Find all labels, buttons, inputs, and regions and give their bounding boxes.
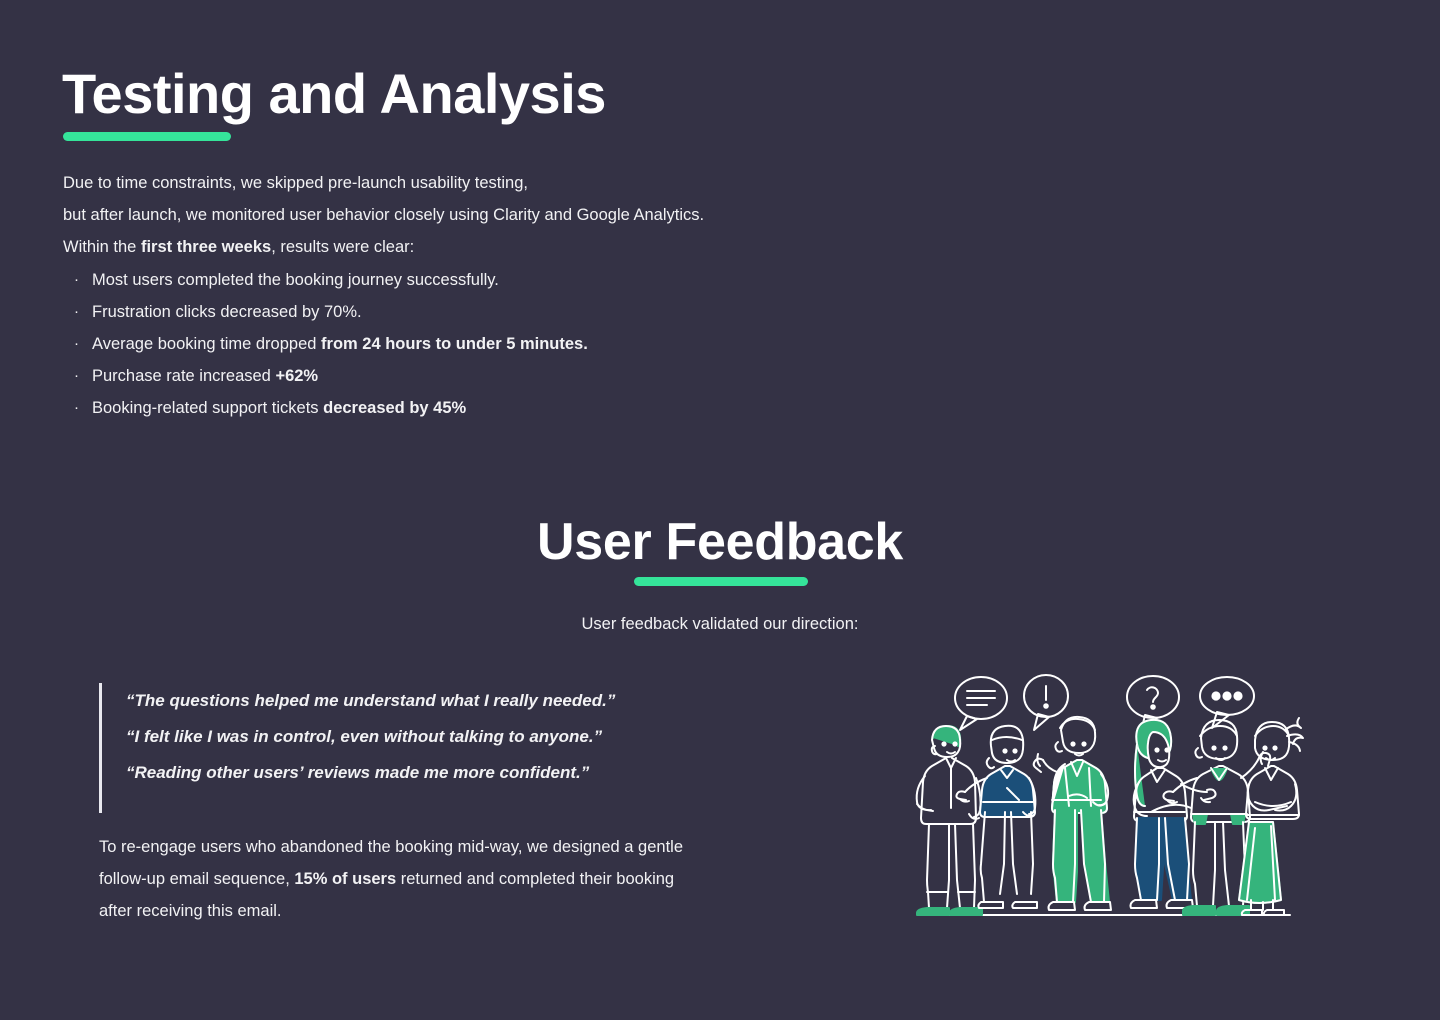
closing-suffix: returned and completed their booking (396, 870, 674, 888)
user-quote: “I felt like I was in control, even with… (126, 719, 819, 755)
figure-2 (956, 726, 1037, 908)
bullet-dot-icon: · (74, 328, 79, 360)
lead-in-bold: first three weeks (141, 238, 271, 256)
closing-line-2: follow-up email sequence, 15% of users r… (99, 863, 829, 895)
slide-root: Testing and Analysis Due to time constra… (0, 0, 1440, 1020)
speech-bubble-exclamation (1024, 675, 1068, 730)
speech-bubble-lines (955, 677, 1007, 730)
closing-line-1: To re-engage users who abandoned the boo… (99, 831, 829, 863)
list-item: ·Average booking time dropped from 24 ho… (70, 328, 588, 360)
user-quote: “Reading other users’ reviews made me mo… (126, 755, 819, 791)
title-accent-underline (63, 132, 231, 141)
intro-line-1: Due to time constraints, we skipped pre-… (63, 167, 963, 199)
results-bullet-list: ·Most users completed the booking journe… (70, 264, 588, 424)
page-title: Testing and Analysis (62, 62, 606, 126)
list-item: ·Most users completed the booking journe… (70, 264, 588, 296)
closing-line-3: after receiving this email. (99, 895, 829, 927)
section-title-user-feedback: User Feedback (0, 512, 1440, 572)
lead-in-suffix: , results were clear: (271, 238, 414, 256)
bullet-bold: decreased by 45% (323, 399, 466, 417)
user-quote: “The questions helped me understand what… (126, 683, 819, 719)
closing-paragraph: To re-engage users who abandoned the boo… (99, 831, 829, 927)
bullet-dot-icon: · (74, 264, 79, 296)
closing-bold: 15% of users (294, 870, 396, 888)
section-subtitle: User feedback validated our direction: (0, 615, 1440, 634)
list-item: ·Frustration clicks decreased by 70%. (70, 296, 588, 328)
intro-lead-in: Within the first three weeks, results we… (63, 231, 963, 263)
bullet-bold: from 24 hours to under 5 minutes. (321, 335, 588, 353)
list-item: ·Booking-related support tickets decreas… (70, 392, 588, 424)
figure-1 (917, 726, 982, 915)
closing-prefix: follow-up email sequence, (99, 870, 294, 888)
user-quotes-block: “The questions helped me understand what… (99, 683, 819, 813)
bullet-bold: +62% (275, 367, 318, 385)
bullet-dot-icon: · (74, 392, 79, 424)
figure-6 (1239, 718, 1303, 915)
group-illustration (905, 672, 1305, 930)
list-item: ·Purchase rate increased +62% (70, 360, 588, 392)
intro-paragraph: Due to time constraints, we skipped pre-… (63, 167, 963, 263)
bullet-text: Average booking time dropped (92, 335, 321, 353)
bullet-text: Most users completed the booking journey… (92, 271, 499, 289)
bullet-text: Booking-related support tickets (92, 399, 323, 417)
lead-in-prefix: Within the (63, 238, 141, 256)
section-title-accent-underline (634, 577, 808, 586)
figure-3 (1034, 717, 1111, 910)
intro-line-2: but after launch, we monitored user beha… (63, 199, 963, 231)
bullet-text: Frustration clicks decreased by 70%. (92, 303, 362, 321)
bullet-dot-icon: · (74, 360, 79, 392)
bullet-text: Purchase rate increased (92, 367, 275, 385)
bullet-dot-icon: · (74, 296, 79, 328)
